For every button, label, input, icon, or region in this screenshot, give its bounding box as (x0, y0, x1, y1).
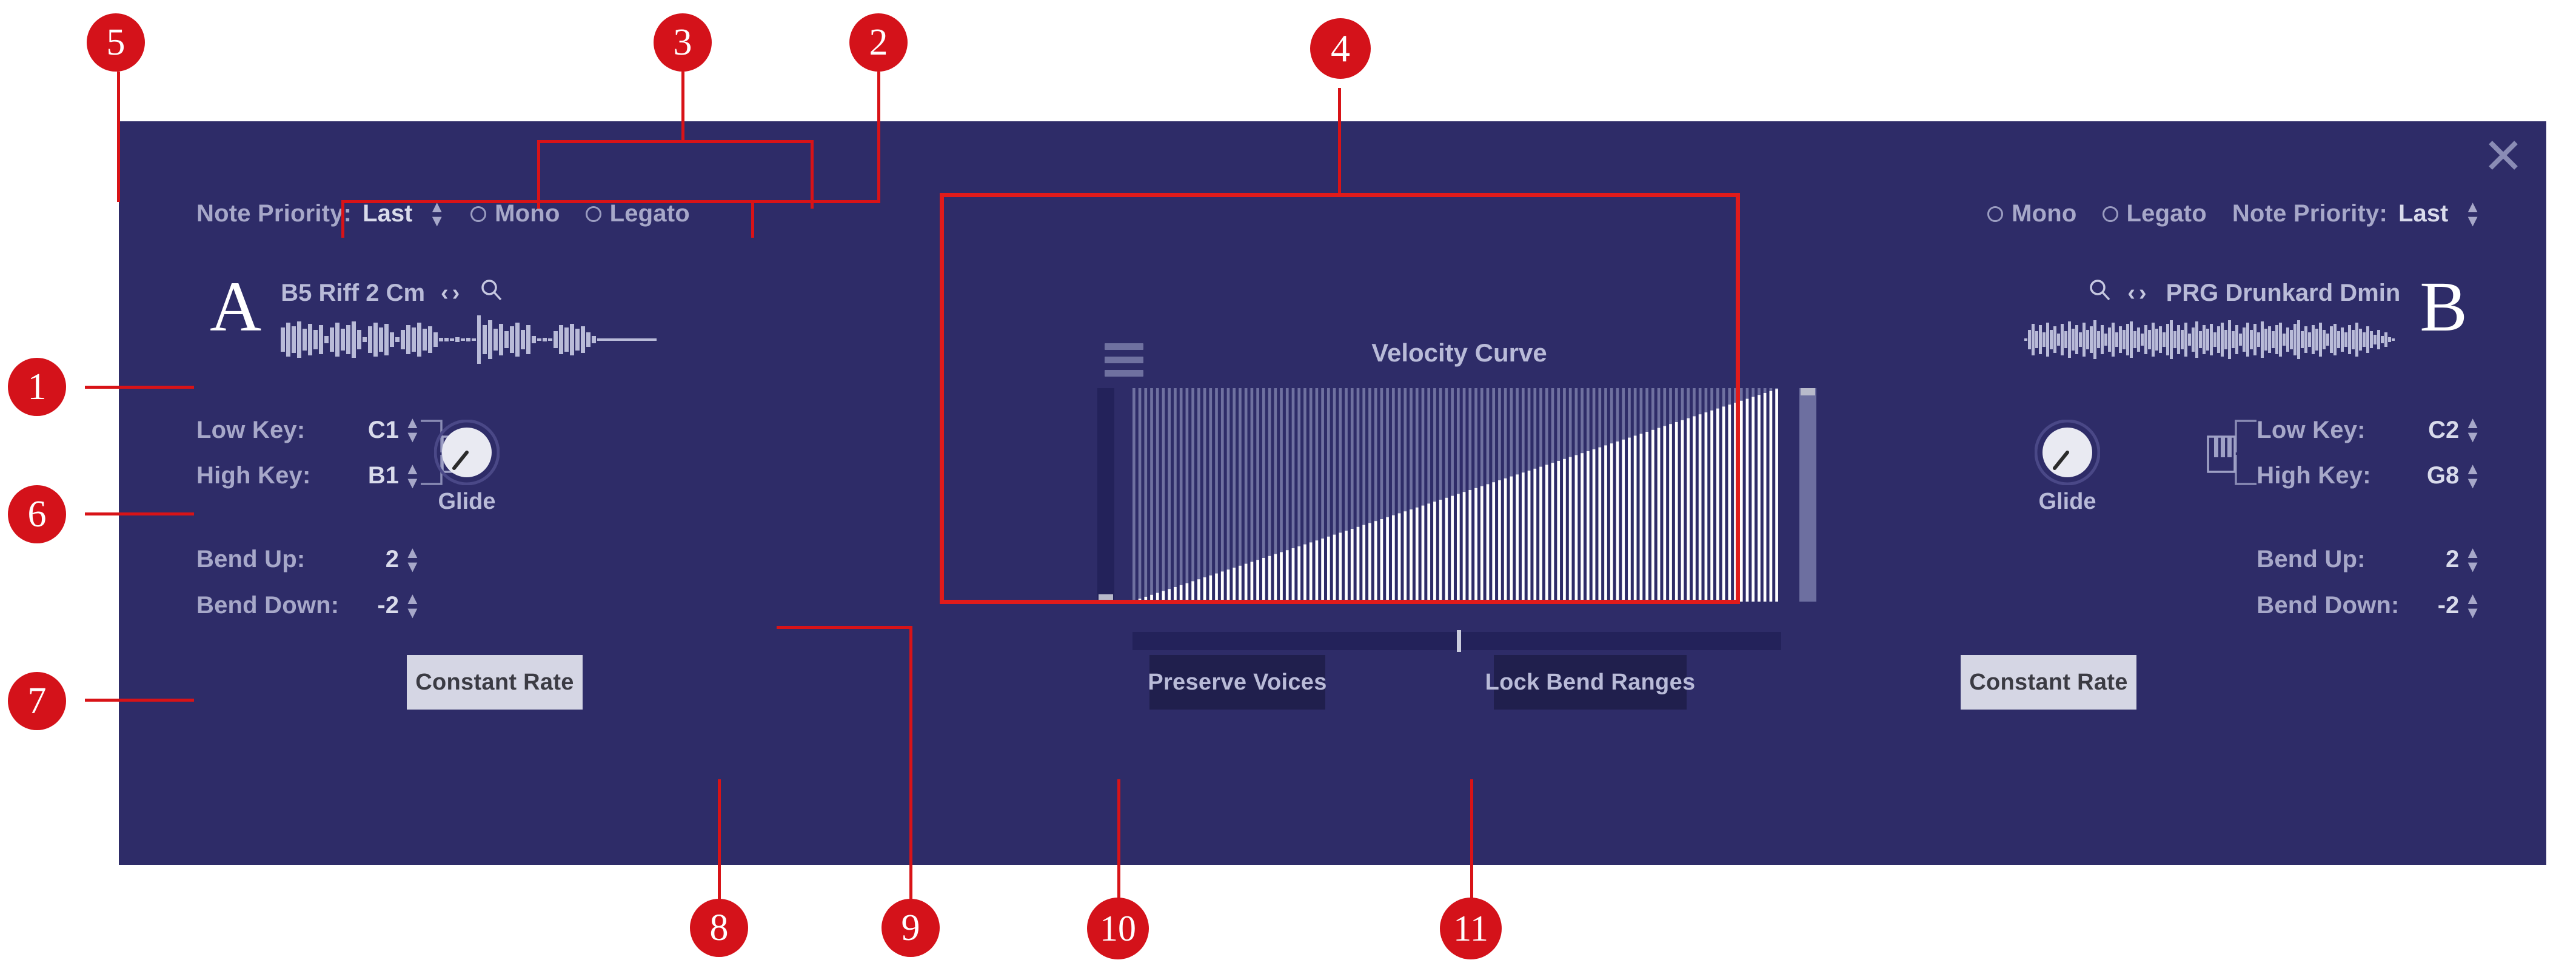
slot-b-key-range: Low Key: C2 ▲▼ High Key: G8 ▲▼ (2204, 408, 2481, 499)
rotary-knob-icon[interactable] (434, 420, 500, 485)
slot-b-bend-range: Bend Up: 2 ▲▼ Bend Down: -2 ▲▼ (2257, 546, 2481, 620)
magnifier-icon[interactable] (479, 278, 503, 308)
slot-a-constant-rate-button[interactable]: Constant Rate (407, 655, 583, 710)
radio-circle-icon (470, 206, 486, 222)
high-key-label: High Key: (2257, 462, 2401, 489)
callout-6-badge: 6 (8, 485, 66, 543)
low-key-value[interactable]: C2 (2401, 417, 2459, 444)
bend-down-label: Bend Down: (196, 592, 341, 619)
slot-b-low-key-row: Low Key: C2 ▲▼ (2257, 416, 2481, 444)
mono-label: Mono (495, 200, 560, 227)
legato-label: Legato (610, 200, 690, 227)
stepper-arrows-icon[interactable]: ▲▼ (404, 546, 421, 574)
bend-up-label: Bend Up: (2257, 546, 2401, 573)
slider-track (1799, 388, 1816, 602)
slot-a-preset-name[interactable]: B5 Riff 2 Cm (281, 280, 425, 307)
slot-a-legato-radio[interactable]: Legato (586, 200, 690, 227)
slot-b-preset-row: ‹› PRG Drunkard Dmin (2024, 278, 2400, 308)
slot-b-bend-up-row: Bend Up: 2 ▲▼ (2257, 546, 2481, 574)
slot-b-high-key-row: High Key: G8 ▲▼ (2257, 462, 2481, 490)
bend-up-value[interactable]: 2 (2401, 546, 2459, 573)
slot-a-preset-row: B5 Riff 2 Cm ‹› (281, 278, 657, 308)
slot-b-waveform-icon (2024, 314, 2400, 365)
high-key-value[interactable]: G8 (2401, 462, 2459, 489)
callout-10-badge: 10 (1087, 898, 1149, 959)
callout-4-box (940, 193, 1740, 604)
glide-label: Glide (438, 489, 495, 515)
mono-label: Mono (2012, 200, 2076, 227)
slot-b-glide-control: Glide (2035, 420, 2100, 515)
preset-nav-arrows[interactable]: ‹› (441, 280, 463, 306)
note-priority-label: Note Priority: (2232, 200, 2387, 227)
callout-3-badge: 3 (654, 13, 712, 72)
stepper-arrows-icon[interactable]: ▲▼ (2464, 592, 2481, 620)
low-key-label: Low Key: (196, 417, 341, 444)
callout-1-badge: 1 (8, 358, 66, 416)
callout-7-leader (85, 699, 194, 702)
slot-b-constant-rate-button[interactable]: Constant Rate (1961, 655, 2136, 710)
slot-a-low-key-row: Low Key: C1 ▲▼ (196, 416, 421, 444)
stepper-arrows-icon[interactable]: ▲▼ (429, 200, 445, 228)
callout-4-badge: 4 (1310, 18, 1371, 79)
slot-a-bend-down-row: Bend Down: -2 ▲▼ (196, 592, 421, 620)
bend-up-label: Bend Up: (196, 546, 341, 573)
slot-a-letter: A (210, 278, 261, 335)
velocity-curve-shape-slider[interactable] (1132, 632, 1781, 650)
radio-circle-icon (586, 206, 601, 222)
slider-thumb[interactable] (1801, 388, 1815, 395)
stepper-arrows-icon[interactable]: ▲▼ (404, 462, 421, 490)
note-priority-value[interactable]: Last (2398, 200, 2448, 227)
callout-8-badge: 8 (690, 899, 748, 957)
slot-a-glide-control: Glide (434, 420, 500, 515)
slider-thumb[interactable] (1457, 630, 1461, 652)
callout-10-leader (1117, 779, 1120, 905)
slot-a-mono-radio[interactable]: Mono (470, 200, 560, 227)
callout-2-bracket-top (341, 200, 880, 203)
stepper-arrows-icon[interactable]: ▲▼ (2464, 200, 2481, 228)
stepper-arrows-icon[interactable]: ▲▼ (404, 416, 421, 444)
slot-b-letter: B (2420, 278, 2467, 335)
high-key-value[interactable]: B1 (341, 462, 399, 489)
piano-keys-icon[interactable] (2204, 408, 2257, 499)
callout-2-bracket-right (751, 200, 754, 238)
callout-6-leader (85, 512, 194, 515)
slot-a-waveform-icon (281, 314, 657, 365)
rotary-knob-icon[interactable] (2035, 420, 2100, 485)
note-priority-label: Note Priority: (196, 200, 352, 227)
callout-3-bracket-right (811, 140, 814, 209)
preset-nav-arrows[interactable]: ‹› (2127, 280, 2150, 306)
callout-1-leader (85, 386, 194, 389)
bend-down-value[interactable]: -2 (2401, 592, 2459, 619)
slot-b-note-priority[interactable]: Note Priority: Last ▲▼ (2232, 200, 2481, 228)
slot-a-bend-up-row: Bend Up: 2 ▲▼ (196, 546, 421, 574)
low-key-value[interactable]: C1 (341, 417, 399, 444)
slot-b-preset-name[interactable]: PRG Drunkard Dmin (2166, 280, 2401, 307)
bend-down-value[interactable]: -2 (341, 592, 399, 619)
slot-a-key-range: Low Key: C1 ▲▼ High Key: B1 ▲▼ (196, 408, 473, 499)
callout-2-badge: 2 (849, 13, 908, 72)
callout-5-badge: 5 (87, 13, 145, 72)
high-key-label: High Key: (196, 462, 341, 489)
callout-3-leader (681, 72, 684, 143)
slot-b-legato-radio[interactable]: Legato (2103, 200, 2207, 227)
slot-a-header-row: Note Priority: Last ▲▼ Mono Legato (196, 200, 690, 228)
callout-11-badge: 11 (1440, 898, 1502, 959)
callout-8-leader (718, 779, 721, 905)
callout-4-leader (1338, 88, 1341, 195)
callout-2-bracket-left (341, 200, 344, 238)
note-priority-value[interactable]: Last (363, 200, 412, 227)
radio-circle-icon (1987, 206, 2003, 222)
slot-b-block: ‹› PRG Drunkard Dmin (2024, 278, 2467, 365)
callout-3-bracket-top (537, 140, 814, 143)
callout-9-leader-v (909, 626, 912, 905)
stepper-arrows-icon[interactable]: ▲▼ (404, 592, 421, 620)
callout-3-bracket-left (537, 140, 540, 209)
magnifier-icon[interactable] (2087, 278, 2112, 308)
stepper-arrows-icon[interactable]: ▲▼ (2464, 546, 2481, 574)
callout-5-leader (117, 72, 120, 202)
stepper-arrows-icon[interactable]: ▲▼ (2464, 416, 2481, 444)
callout-9-leader-h (777, 626, 912, 629)
bend-up-value[interactable]: 2 (341, 546, 399, 573)
close-icon[interactable] (2484, 136, 2522, 174)
glide-label: Glide (2038, 489, 2096, 515)
slot-b-mono-radio[interactable]: Mono (1987, 200, 2076, 227)
callout-9-badge: 9 (882, 899, 940, 957)
slot-b-bend-down-row: Bend Down: -2 ▲▼ (2257, 592, 2481, 620)
callout-11-leader (1470, 779, 1473, 905)
velocity-max-slider[interactable] (1799, 388, 1816, 602)
slot-a-block: A B5 Riff 2 Cm ‹› (210, 278, 657, 365)
low-key-label: Low Key: (2257, 417, 2401, 444)
slot-b-header-row: Mono Legato Note Priority: Last ▲▼ (1987, 200, 2481, 228)
stepper-arrows-icon[interactable]: ▲▼ (2464, 462, 2481, 490)
callout-7-badge: 7 (8, 672, 66, 730)
bend-down-label: Bend Down: (2257, 592, 2401, 619)
slot-a-note-priority[interactable]: Note Priority: Last ▲▼ (196, 200, 445, 228)
slot-a-bend-range: Bend Up: 2 ▲▼ Bend Down: -2 ▲▼ (196, 546, 421, 620)
legato-label: Legato (2127, 200, 2207, 227)
callout-2-leader (877, 72, 880, 203)
slot-a-high-key-row: High Key: B1 ▲▼ (196, 462, 421, 490)
radio-circle-icon (2103, 206, 2118, 222)
